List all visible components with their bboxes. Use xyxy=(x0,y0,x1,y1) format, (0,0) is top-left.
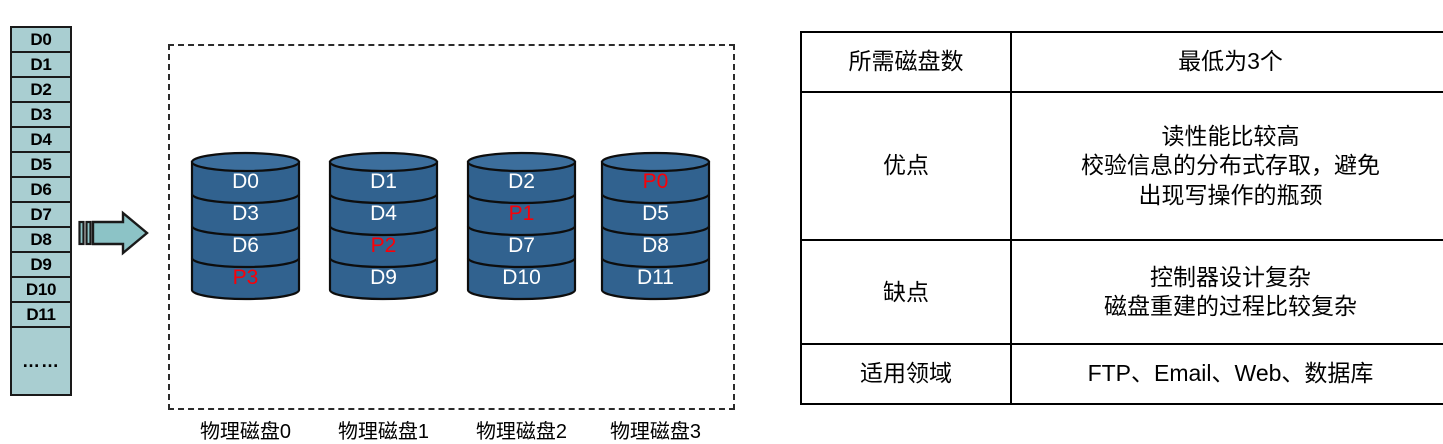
spec-row-1-line-2: 出现写操作的瓶颈 xyxy=(1018,181,1443,210)
spec-row-2-line-1: 磁盘重建的过程比较复杂 xyxy=(1018,292,1443,321)
spec-row-2-label: 缺点 xyxy=(801,240,1011,344)
spec-row: 优点读性能比较高校验信息的分布式存取，避免出现写操作的瓶颈 xyxy=(801,92,1443,241)
logical-block-ellipsis: …… xyxy=(12,328,70,394)
spec-row-3-label: 适用领域 xyxy=(801,344,1011,404)
spec-row-3-line-0: FTP、Email、Web、数据库 xyxy=(1018,359,1443,388)
logical-block-d3: D3 xyxy=(12,103,70,128)
spec-row-0-label: 所需磁盘数 xyxy=(801,32,1011,92)
physical-disk-0: D0D3D6P3物理磁盘0 xyxy=(189,150,302,298)
spec-row-1-line-0: 读性能比较高 xyxy=(1018,122,1443,151)
spec-row-0-value: 最低为3个 xyxy=(1011,32,1443,92)
spec-row-2-line-0: 控制器设计复杂 xyxy=(1018,263,1443,292)
physical-disk-1-caption: 物理磁盘1 xyxy=(304,415,464,444)
logical-block-d6: D6 xyxy=(12,178,70,203)
physical-disk-3: P0D5D8D11物理磁盘3 xyxy=(599,150,712,298)
logical-block-d1: D1 xyxy=(12,53,70,78)
spec-row: 所需磁盘数最低为3个 xyxy=(801,32,1443,92)
logical-block-d0: D0 xyxy=(12,28,70,53)
spec-row-2-value: 控制器设计复杂磁盘重建的过程比较复杂 xyxy=(1011,240,1443,344)
raid5-array-group: D0D3D6P3物理磁盘0D1D4P2D9物理磁盘1D2P1D7D10物理磁盘2… xyxy=(168,44,735,410)
spec-row-3-value: FTP、Email、Web、数据库 xyxy=(1011,344,1443,404)
spec-row-1-value: 读性能比较高校验信息的分布式存取，避免出现写操作的瓶颈 xyxy=(1011,92,1443,241)
physical-disk-2: D2P1D7D10物理磁盘2 xyxy=(465,150,578,298)
physical-disk-3-caption: 物理磁盘3 xyxy=(576,415,736,444)
logical-block-d7: D7 xyxy=(12,203,70,228)
spec-row-1-label: 优点 xyxy=(801,92,1011,241)
logical-block-d10: D10 xyxy=(12,278,70,303)
physical-disk-1: D1D4P2D9物理磁盘1 xyxy=(327,150,440,298)
logical-block-d5: D5 xyxy=(12,153,70,178)
logical-block-d9: D9 xyxy=(12,253,70,278)
logical-block-d11: D11 xyxy=(12,303,70,328)
logical-block-d2: D2 xyxy=(12,78,70,103)
raid5-spec-table: 所需磁盘数最低为3个优点读性能比较高校验信息的分布式存取，避免出现写操作的瓶颈缺… xyxy=(800,31,1443,405)
flow-arrow xyxy=(78,209,150,257)
spec-row-0-line-0: 最低为3个 xyxy=(1018,47,1443,76)
logical-block-d8: D8 xyxy=(12,228,70,253)
logical-data-column: D0D1D2D3D4D5D6D7D8D9D10D11…… xyxy=(10,26,72,396)
spec-row: 缺点控制器设计复杂磁盘重建的过程比较复杂 xyxy=(801,240,1443,344)
spec-row: 适用领域FTP、Email、Web、数据库 xyxy=(801,344,1443,404)
physical-disk-0-caption: 物理磁盘0 xyxy=(166,415,326,444)
spec-row-1-line-1: 校验信息的分布式存取，避免 xyxy=(1018,151,1443,180)
logical-block-d4: D4 xyxy=(12,128,70,153)
